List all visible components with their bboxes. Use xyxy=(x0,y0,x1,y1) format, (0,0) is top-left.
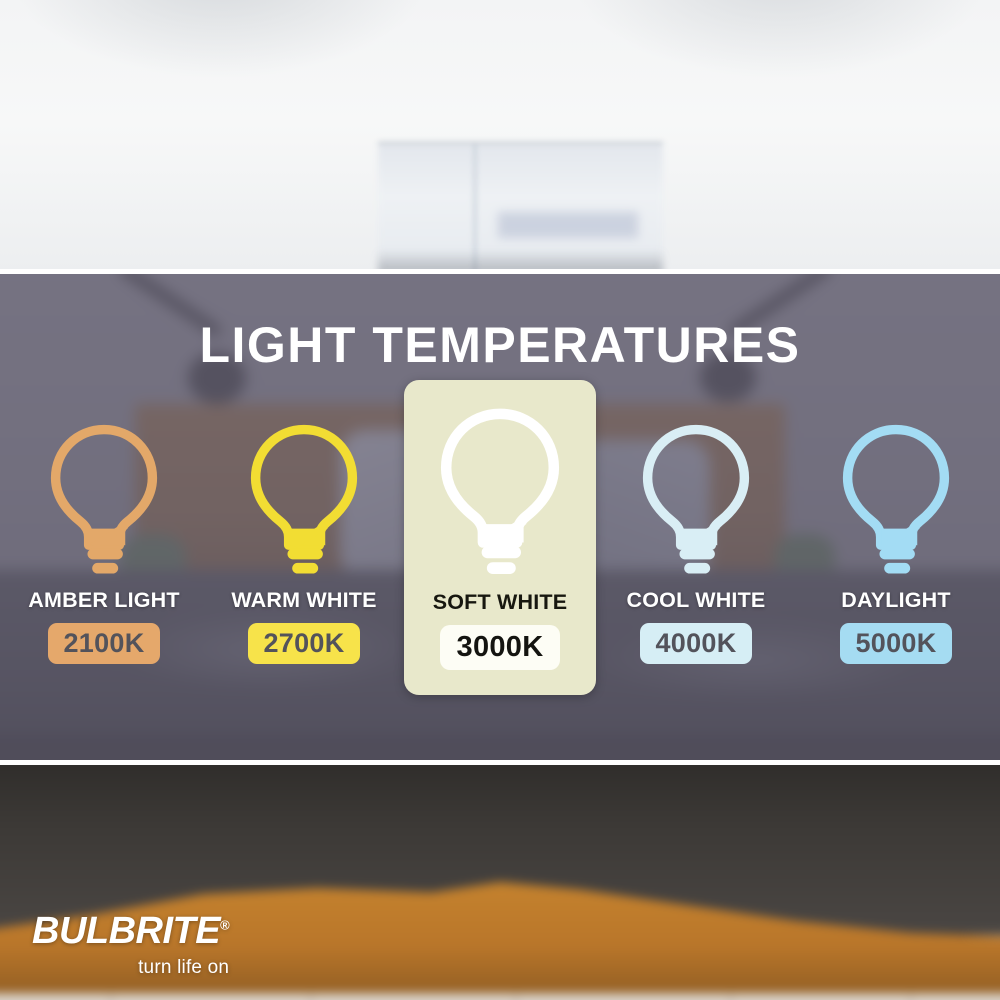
brand-tagline: turn life on xyxy=(32,957,229,979)
light-bulb-icon xyxy=(837,422,955,574)
floor-plank-seam xyxy=(310,993,312,1000)
light-bulb-icon xyxy=(637,422,755,574)
brand-logo: BULBRITE® turn life on xyxy=(32,912,229,979)
kelvin-badge: 2700K xyxy=(248,623,359,664)
temperature-item-2700k[interactable]: WARM WHITE2700K xyxy=(204,396,404,664)
temperature-item-2100k[interactable]: AMBER LIGHT2100K xyxy=(4,396,204,664)
floor-plank-seam xyxy=(110,993,112,1000)
temperature-list: AMBER LIGHT2100KWARM WHITE2700KSOFT WHIT… xyxy=(0,396,1000,736)
bottom-divider-line xyxy=(0,760,1000,765)
kelvin-badge: 4000K xyxy=(640,623,751,664)
light-wood-floor xyxy=(0,993,1000,1000)
wall-artwork-band xyxy=(498,212,638,238)
light-bulb-icon xyxy=(434,406,566,574)
floor-plank-seam xyxy=(515,993,517,1000)
temperature-item-3000k[interactable]: SOFT WHITE3000K xyxy=(404,380,596,695)
temperature-name: SOFT WHITE xyxy=(433,590,568,615)
floor-plank-seam xyxy=(730,993,732,1000)
brand-name-text: BULBRITE xyxy=(32,910,220,952)
light-bulb-icon xyxy=(245,422,363,574)
background-wall-photo xyxy=(0,0,1000,274)
temperature-name: WARM WHITE xyxy=(231,588,376,613)
kelvin-badge: 3000K xyxy=(440,625,561,670)
page-title: LIGHT TEMPERATURES xyxy=(0,316,1000,374)
temperature-name: DAYLIGHT xyxy=(841,588,951,613)
registered-trademark-icon: ® xyxy=(220,917,229,932)
temperature-item-5000k[interactable]: DAYLIGHT5000K xyxy=(796,396,996,664)
light-bulb-icon xyxy=(45,422,163,574)
kelvin-badge: 2100K xyxy=(48,623,159,664)
temperature-name: COOL WHITE xyxy=(627,588,766,613)
temperature-name: AMBER LIGHT xyxy=(28,588,180,613)
brand-name: BULBRITE® xyxy=(32,912,229,950)
temperature-item-4000k[interactable]: COOL WHITE4000K xyxy=(596,396,796,664)
floor-plank-seam xyxy=(910,993,912,1000)
light-temperatures-infographic: LIGHT TEMPERATURES AMBER LIGHT2100KWARM … xyxy=(0,0,1000,1000)
kelvin-badge: 5000K xyxy=(840,623,951,664)
infographic-content: LIGHT TEMPERATURES AMBER LIGHT2100KWARM … xyxy=(0,274,1000,760)
